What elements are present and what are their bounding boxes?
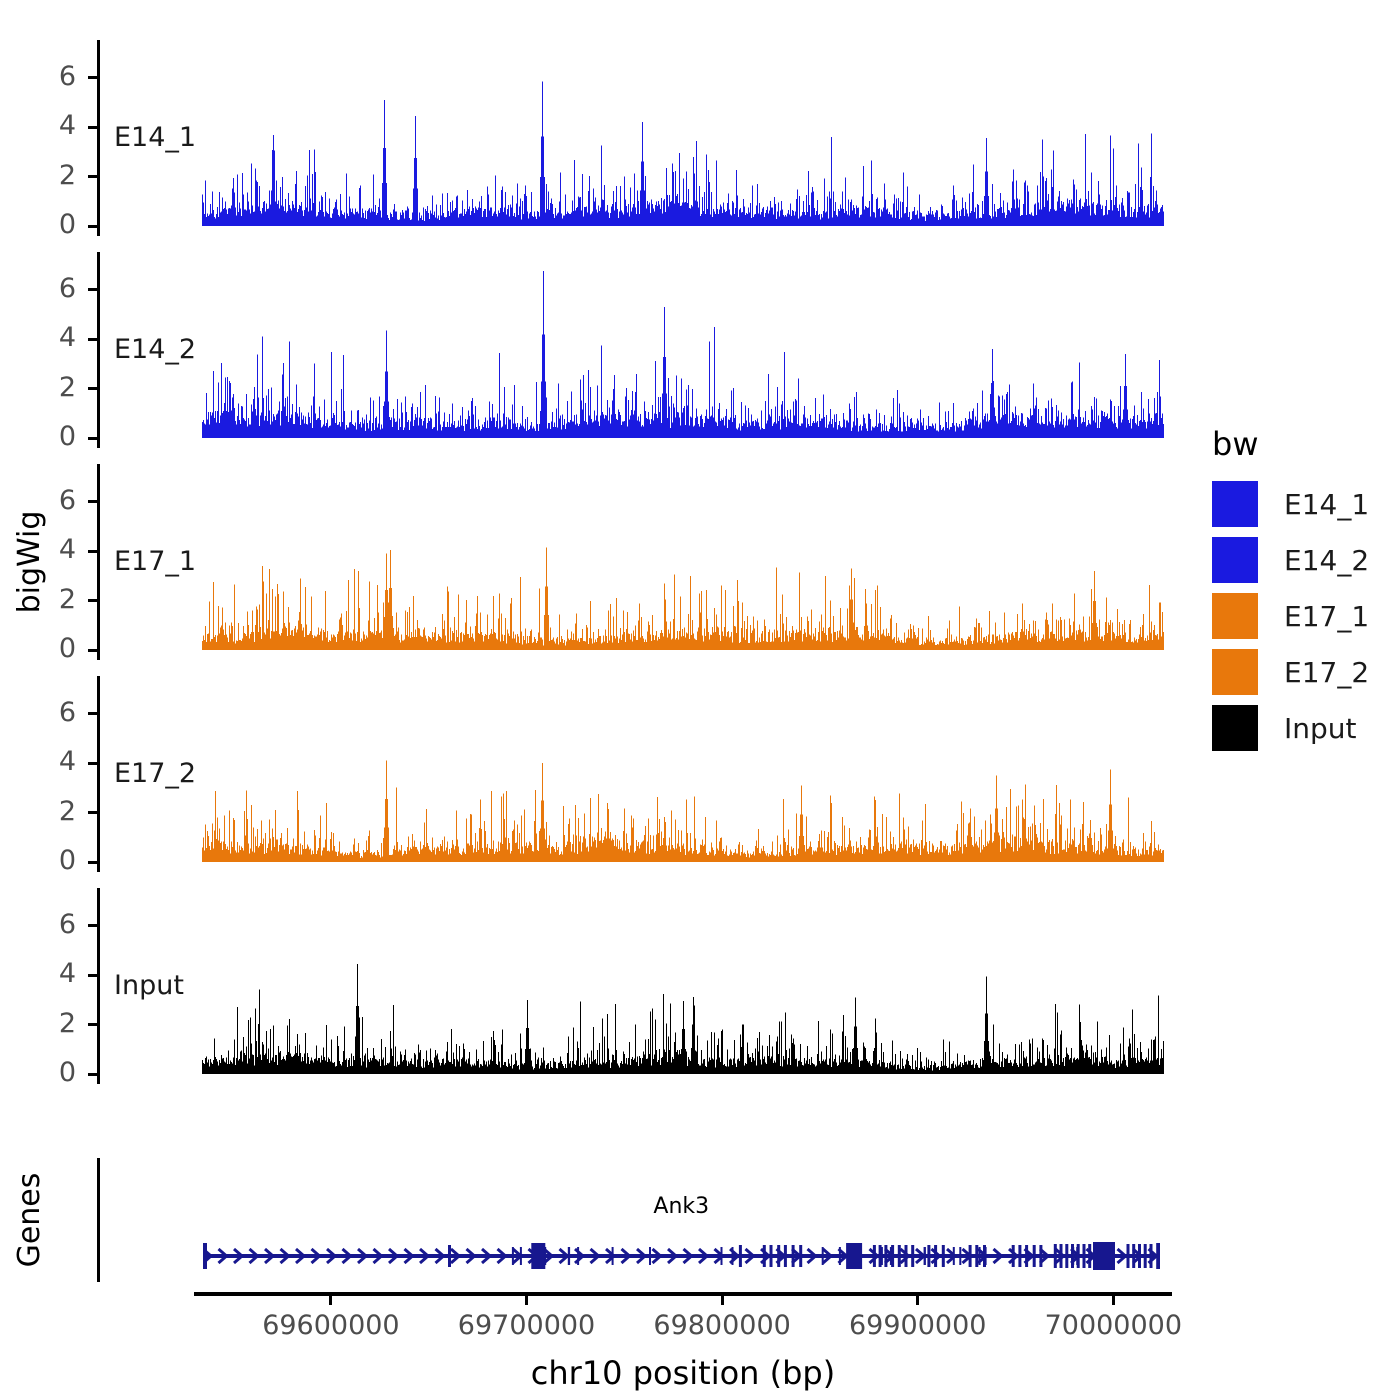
y-tick <box>88 1073 97 1076</box>
x-axis-label: chr10 position (bp) <box>94 1354 1272 1392</box>
x-tick <box>916 1296 919 1305</box>
bigwig-genome-browser-figure: bigWig Genes 0246E14_10246E14_20246E17_1… <box>0 0 1400 1400</box>
legend-item-e17_1[interactable]: E17_1 <box>1212 593 1369 639</box>
y-tick-label: 0 <box>27 1059 76 1086</box>
x-tick-label: 70000000 <box>1003 1310 1223 1341</box>
legend-item-e14_2[interactable]: E14_2 <box>1212 537 1369 583</box>
x-tick <box>1112 1296 1115 1305</box>
legend-label: E14_1 <box>1284 488 1369 521</box>
y-tick <box>88 1023 97 1026</box>
legend-label: E14_2 <box>1284 544 1369 577</box>
legend-item-e14_1[interactable]: E14_1 <box>1212 481 1369 527</box>
legend-label: E17_2 <box>1284 656 1369 689</box>
track-label-input: Input <box>114 970 184 1001</box>
x-tick <box>525 1296 528 1305</box>
legend-label: Input <box>1284 712 1357 745</box>
x-tick <box>721 1296 724 1305</box>
y-tick <box>88 924 97 927</box>
y-tick-label: 4 <box>27 960 76 987</box>
x-tick-label: 69900000 <box>808 1310 1028 1341</box>
legend-color-swatch <box>1212 705 1258 751</box>
legend: bw E14_1E14_2E17_1E17_2Input <box>1212 425 1400 735</box>
y-axis-line <box>97 888 100 1084</box>
x-tick-label: 69700000 <box>417 1310 637 1341</box>
y-tick-label: 6 <box>27 911 76 938</box>
legend-title: bw <box>1212 425 1258 463</box>
track-panel-input: 0246Input <box>0 0 1400 1400</box>
legend-item-e17_2[interactable]: E17_2 <box>1212 649 1369 695</box>
legend-item-input[interactable]: Input <box>1212 705 1357 751</box>
y-tick-label: 2 <box>27 1010 76 1037</box>
x-tick-label: 69800000 <box>612 1310 832 1341</box>
signal-track-input <box>202 888 1164 1098</box>
y-tick <box>88 974 97 977</box>
gene-model-ank3[interactable] <box>203 1240 1160 1272</box>
x-axis-line <box>194 1292 1172 1296</box>
legend-color-swatch <box>1212 481 1258 527</box>
x-tick-label: 69600000 <box>221 1310 441 1341</box>
legend-label: E17_1 <box>1284 600 1369 633</box>
genes-axis-line <box>97 1158 100 1282</box>
legend-color-swatch <box>1212 593 1258 639</box>
x-tick <box>329 1296 332 1305</box>
legend-color-swatch <box>1212 537 1258 583</box>
gene-label-ank3: Ank3 <box>581 1194 781 1219</box>
legend-color-swatch <box>1212 649 1258 695</box>
